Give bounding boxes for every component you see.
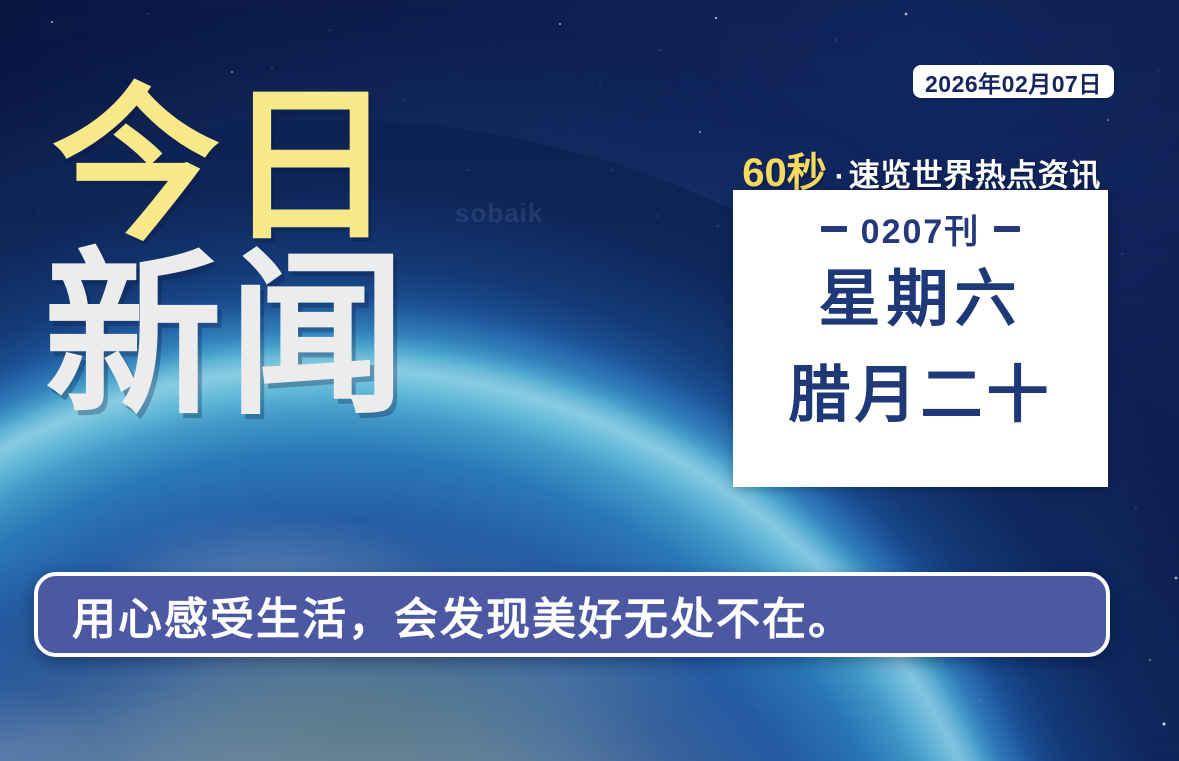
issue-label: 0207刊 bbox=[861, 204, 981, 253]
quote-text: 用心感受生活，会发现美好无处不在。 bbox=[38, 583, 854, 647]
tagline-text: 速览世界热点资讯 bbox=[849, 150, 1101, 195]
title-line-news: 新闻 bbox=[44, 251, 472, 422]
dash-right-icon bbox=[994, 226, 1020, 232]
page-title: 今日 新闻 bbox=[52, 86, 472, 422]
quote-banner: 用心感受生活，会发现美好无处不在。 bbox=[34, 572, 1110, 657]
tagline-separator-icon: · bbox=[835, 160, 845, 194]
issue-row: 0207刊 bbox=[821, 204, 1021, 253]
date-badge: 2026年02月07日 bbox=[913, 65, 1114, 98]
weekday-label: 星期六 bbox=[818, 269, 1022, 331]
lunar-date-label: 腊月二十 bbox=[788, 365, 1052, 427]
dash-left-icon bbox=[821, 226, 847, 232]
date-badge-label: 2026年02月07日 bbox=[925, 65, 1102, 99]
news-poster: sobaik 今日 新闻 2026年02月07日 60秒 · 速览世界热点资讯 … bbox=[0, 0, 1179, 761]
title-line-today: 今日 bbox=[52, 86, 472, 247]
info-card: 0207刊 星期六 腊月二十 bbox=[733, 190, 1108, 487]
